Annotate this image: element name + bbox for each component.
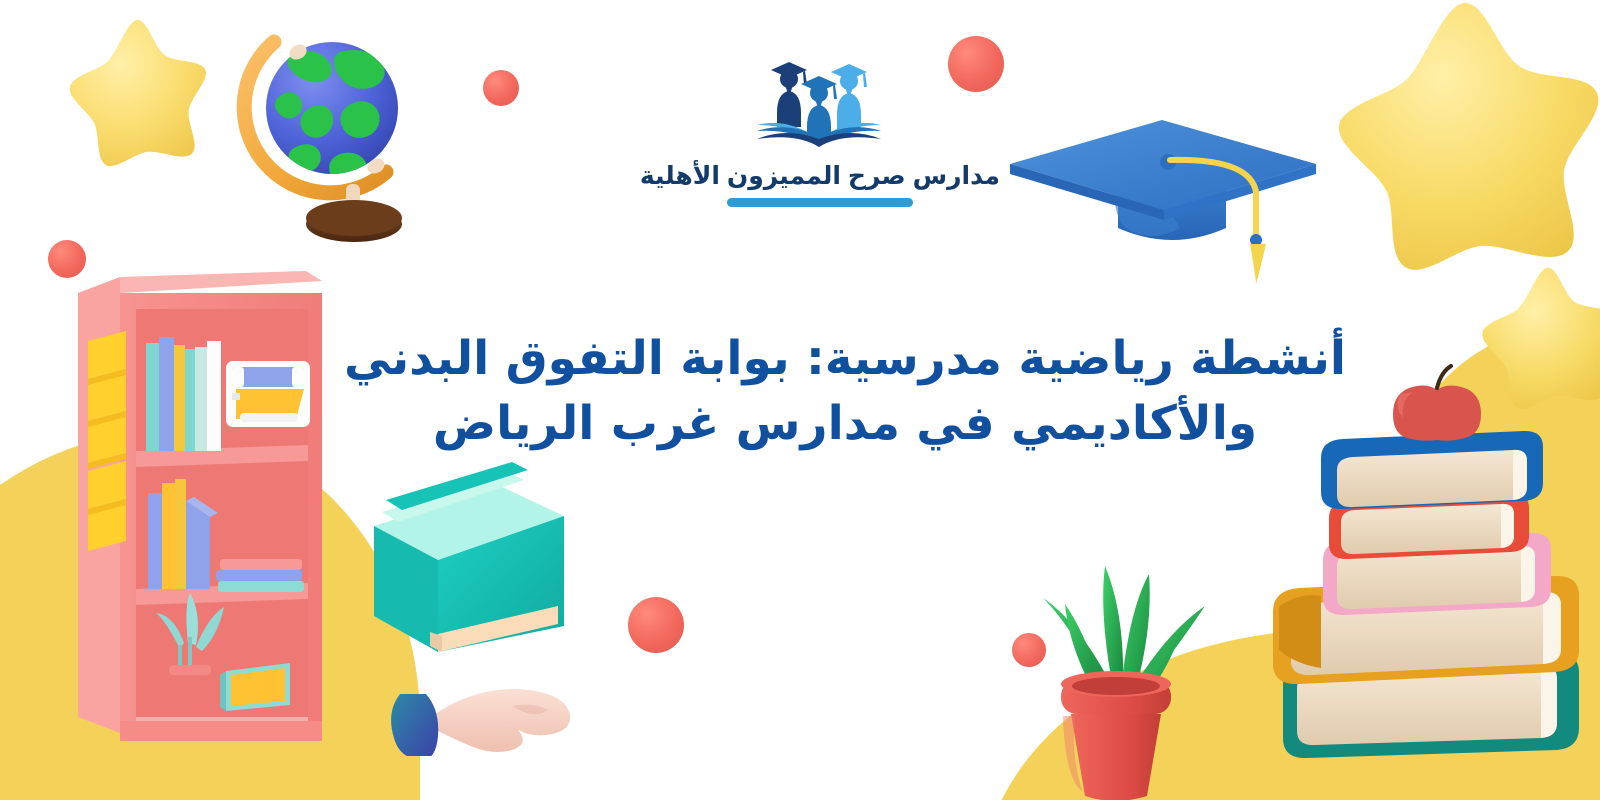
ball-top-center (483, 70, 519, 106)
globe-illustration (228, 12, 428, 252)
school-logo[interactable]: مدارس صرح المميزون الأهلية (640, 55, 1000, 207)
page-title: أنشطة رياضية مدرسية: بوابة التفوق البدني… (340, 327, 1350, 457)
ball-center-low (628, 597, 684, 653)
school-banner: مدارس صرح المميزون الأهلية أنشطة رياضية … (0, 0, 1600, 800)
apple (1393, 366, 1481, 441)
logo-graduates-book-icon (745, 55, 895, 155)
bookshelf-illustration (60, 265, 360, 745)
hand-holding-book-illustration (352, 456, 622, 756)
book-blue (1321, 431, 1543, 509)
logo-text: مدارس صرح المميزون الأهلية (640, 161, 1000, 191)
ball-plant-left (1012, 633, 1046, 667)
star-top-right (1315, 0, 1600, 288)
graduation-cap-illustration (1000, 100, 1320, 290)
ball-left-upper (48, 240, 86, 278)
star-top-left (55, 5, 220, 180)
logo-underline-rule (727, 198, 913, 207)
